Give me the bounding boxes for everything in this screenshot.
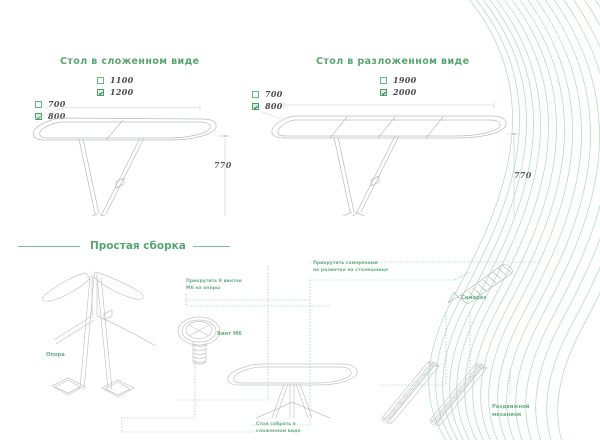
folded-assembly-drawing (222, 352, 362, 422)
checkbox-unchecked[interactable] (380, 77, 387, 84)
option-row[interactable]: 1900 (380, 74, 416, 86)
slide-rail-drawing (370, 348, 520, 432)
callout-bolts: Прикрутить 8 винтов М6 на опоры (186, 279, 242, 292)
option-row[interactable]: 1100 (97, 74, 133, 86)
section-title-folded: Стол в сложенном виде (60, 56, 200, 67)
label-mechanism: Раздвижной механизм (492, 404, 529, 419)
callout-folded-assembly: Стол собрать в сложенном виде (256, 422, 301, 435)
infographic-page: Размеры Стол в сложенном виде 1100 1200 … (0, 0, 600, 440)
page-header: Размеры (0, 0, 600, 92)
option-value: 1100 (110, 75, 133, 85)
page-title: Размеры (0, 6, 600, 40)
checkbox-unchecked[interactable] (252, 91, 259, 98)
divider-left (18, 246, 80, 247)
checkbox-checked[interactable] (252, 103, 259, 110)
folded-table-drawing (20, 86, 270, 216)
checkbox-unchecked[interactable] (97, 77, 104, 84)
label-bolt: Винт М6 (217, 331, 242, 339)
label-screw: Саморез (461, 295, 486, 303)
unfolded-table-drawing (262, 86, 542, 216)
section-title-unfolded: Стол в разложенном виде (316, 56, 469, 67)
assembly-section-title: Простая сборка (83, 240, 193, 252)
option-value: 1900 (393, 75, 416, 85)
callout-self-tapping: Прикрутить саморезами по разметке на сто… (313, 261, 388, 274)
label-support: Опора (46, 352, 65, 360)
